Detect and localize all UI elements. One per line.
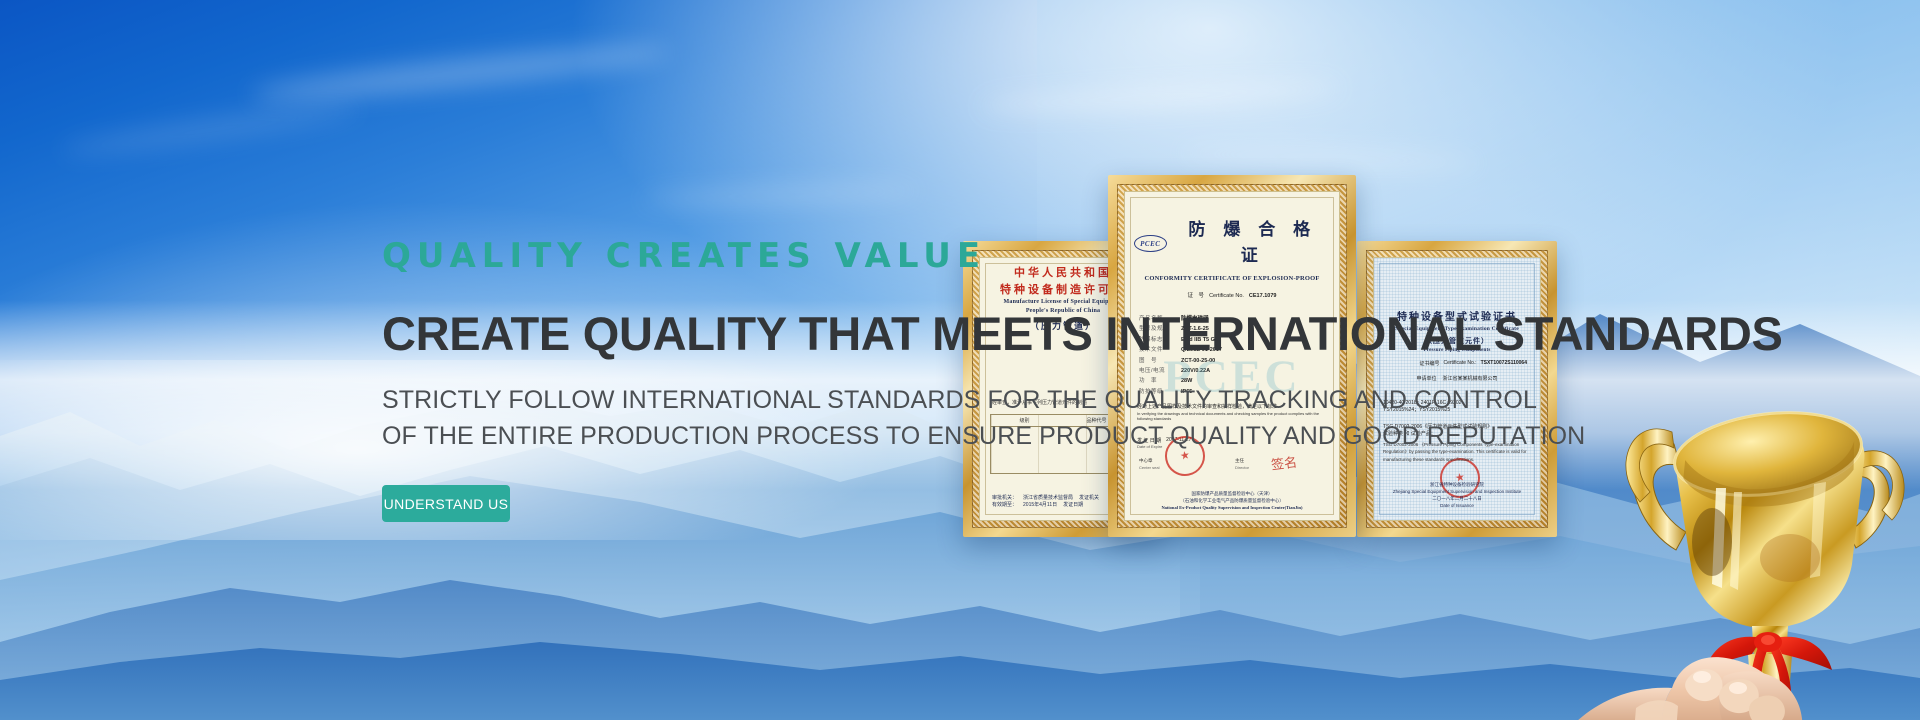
subtitle-line-1: STRICTLY FOLLOW INTERNATIONAL STANDARDS … <box>382 383 1502 419</box>
eyebrow-heading: QUALITY CREATES VALUE <box>382 236 1502 276</box>
director-signature: 签名 <box>1270 451 1298 473</box>
understand-us-button[interactable]: UNDERSTAND US <box>382 485 510 522</box>
cert2-seal-label-en: Center seal <box>1139 465 1159 470</box>
cert3-date-label-en: Date of Issuance <box>1374 503 1540 510</box>
subtitle-line-2: OF THE ENTIRE PRODUCTION PROCESS TO ENSU… <box>382 419 1502 455</box>
cert2-seal-label-zh: 中心章 <box>1139 458 1153 464</box>
cert3-issuer-zh: 浙江省特种设备检验研究院 <box>1374 482 1540 489</box>
hero-copy-block: QUALITY CREATES VALUE CREATE QUALITY THA… <box>382 236 1502 454</box>
cert2-director-label-zh: 主任 <box>1235 458 1244 464</box>
cert1-validity-value: 2015年4月11日 <box>1023 502 1057 510</box>
hero-banner: 中华人民共和国 特种设备制造许可证 Manufacture License of… <box>0 0 1920 720</box>
cert1-validity-label2: 发证日期 <box>1063 502 1083 510</box>
cert2-issuer-zh-2: （石油和化学工业电气产品防爆质量监督检验中心） <box>1125 498 1339 505</box>
cert1-validity-label: 有效期至： <box>992 502 1017 510</box>
cert3-date-zh: 二〇一八年二月二十八日 <box>1374 496 1540 503</box>
page-title: CREATE QUALITY THAT MEETS INTERNATIONAL … <box>382 306 1502 361</box>
trophy-with-hands-image <box>1576 392 1920 720</box>
cert2-issuer-en: National Ex-Product Quality Supervision … <box>1125 505 1339 512</box>
cert2-director-label-en: Director <box>1235 465 1249 470</box>
